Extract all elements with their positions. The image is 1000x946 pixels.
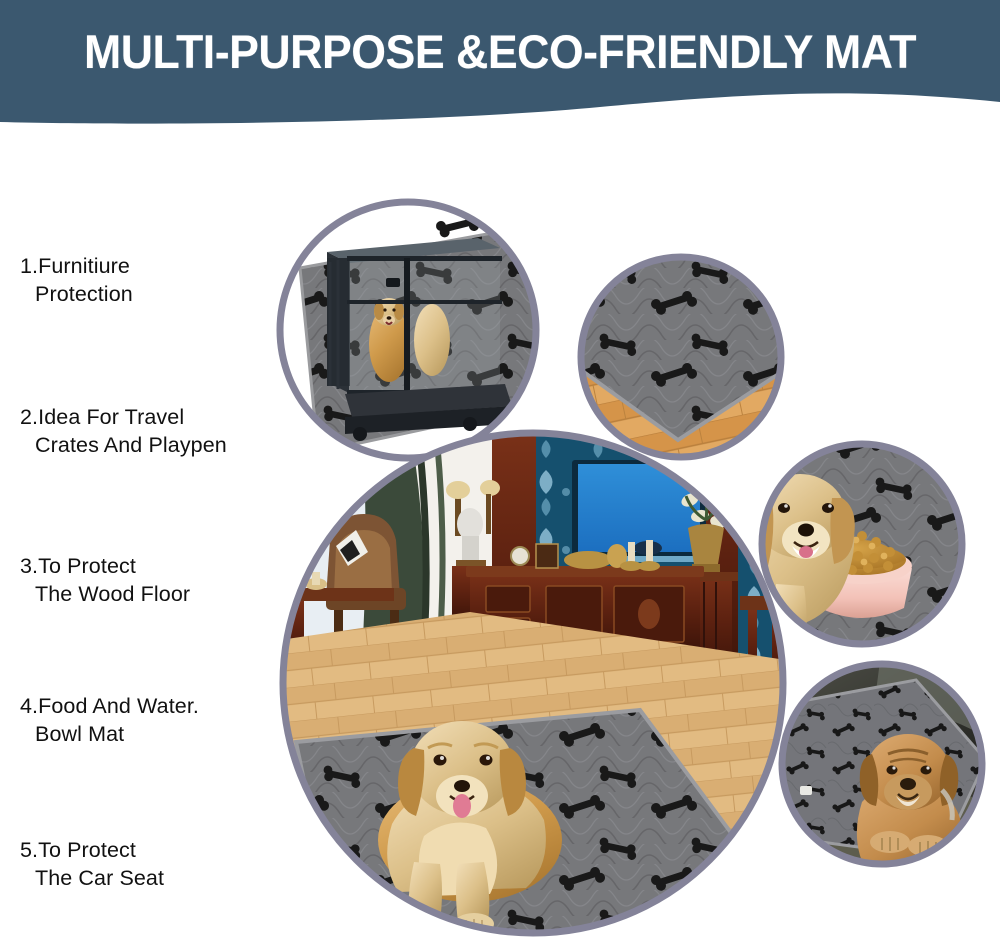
circle-living-room-scene xyxy=(280,430,786,944)
circle-food-bowl-scene xyxy=(748,438,972,657)
circle-car-seat-scene xyxy=(776,661,986,872)
circle-wood-floor-scene xyxy=(556,250,800,460)
product-use-case-collage xyxy=(0,0,1000,946)
collage-svg xyxy=(0,0,1000,946)
circle-crate-scene xyxy=(277,199,560,461)
